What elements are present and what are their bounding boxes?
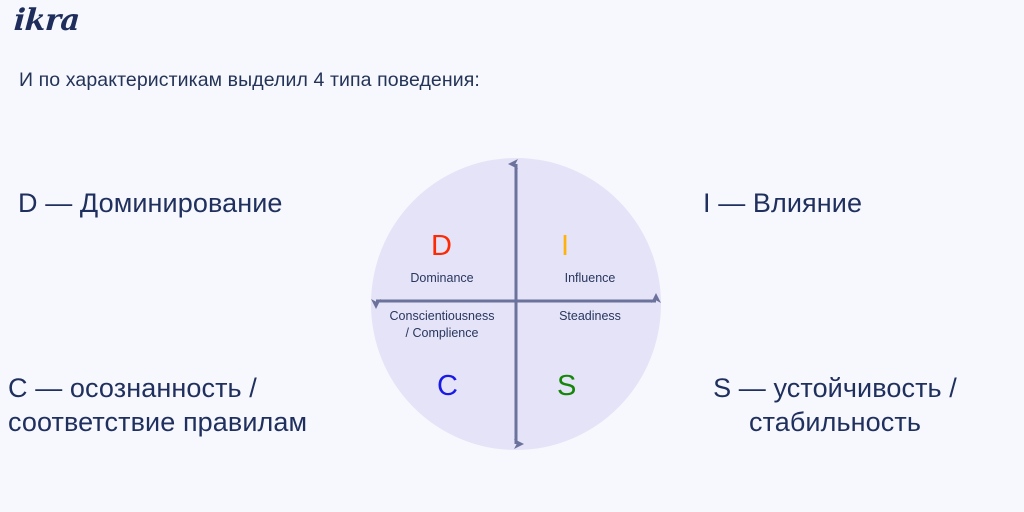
caption-conscientiousness-line2: соответствие правилам (8, 405, 307, 439)
caption-conscientiousness: C — осознанность / соответствие правилам (8, 371, 307, 440)
caption-steadiness: S — устойчивость / стабильность (690, 371, 980, 440)
quadrant-letter-i: I (561, 232, 569, 261)
caption-steadiness-line1: S — устойчивость / (690, 371, 980, 405)
caption-influence-line1: I — Влияние (703, 186, 862, 220)
caption-steadiness-line2: стабильность (690, 405, 980, 439)
quadrant-label-influence-line1: Influence (519, 270, 661, 287)
intro-text: И по характеристикам выделил 4 типа пове… (19, 69, 480, 92)
quadrant-label-influence: Influence (519, 270, 661, 287)
slide-root: ikra И по характеристикам выделил 4 типа… (0, 0, 1024, 512)
quadrant-label-conscientiousness-line2: / Complience (371, 325, 513, 342)
ikra-logo: ikra (13, 6, 81, 36)
caption-dominance-line1: D — Доминирование (18, 186, 283, 220)
quadrant-label-conscientiousness: Conscientiousness / Complience (371, 308, 513, 343)
quadrant-label-dominance: Dominance (371, 270, 513, 287)
disc-diagram: D I C S Dominance Influence Conscientiou… (371, 158, 661, 450)
quadrant-letter-d: D (431, 232, 452, 261)
quadrant-label-conscientiousness-line1: Conscientiousness (371, 308, 513, 325)
disc-axes (371, 158, 661, 450)
quadrant-label-dominance-line1: Dominance (371, 270, 513, 287)
quadrant-label-steadiness-line1: Steadiness (519, 308, 661, 325)
quadrant-letter-s: S (557, 372, 576, 401)
quadrant-label-steadiness: Steadiness (519, 308, 661, 325)
quadrant-letter-c: C (437, 372, 458, 401)
caption-conscientiousness-line1: C — осознанность / (8, 371, 307, 405)
caption-dominance: D — Доминирование (18, 186, 283, 220)
caption-influence: I — Влияние (703, 186, 862, 220)
